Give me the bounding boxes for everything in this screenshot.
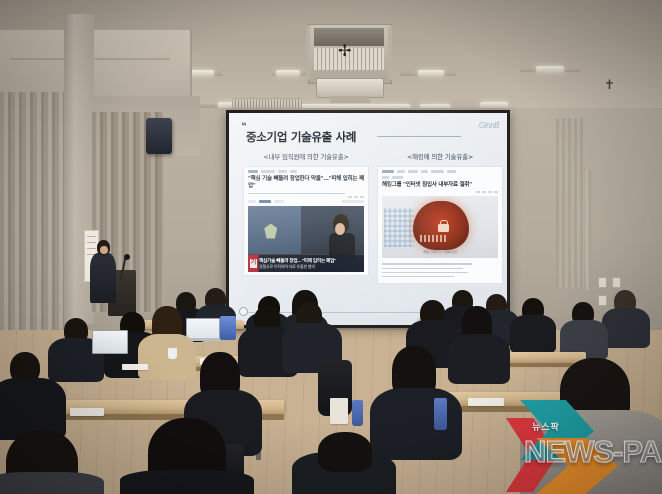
- door-frame: [586, 170, 591, 290]
- news-headline-right: 해킹그룹 "인터넷 침입사 내부자료 절취": [382, 182, 498, 189]
- news-article-card-left: "핵심 기술 빼돌려 창업한다 막을"…"피해 입히는 폐업": [243, 166, 369, 276]
- light-switch[interactable]: [598, 277, 607, 288]
- news-nav-bar: [382, 170, 498, 173]
- laptop-screen[interactable]: [186, 318, 220, 340]
- presenter-face: [100, 246, 108, 254]
- paper-document[interactable]: [70, 408, 104, 416]
- broadcast-badge: 기: [250, 259, 257, 268]
- broadcast-subcaption: 경쟁사로 이직하며 자료 유출한 혐의: [259, 264, 362, 270]
- water-bottle[interactable]: [352, 400, 363, 426]
- title-rule: [377, 136, 461, 137]
- window-curtain: [556, 118, 584, 288]
- organization-logo: GInnB: [479, 121, 499, 130]
- slide-timeline-marker: [239, 307, 248, 316]
- projector-cables: ✢: [338, 44, 351, 60]
- slide-column-right: <해킹에 의한 기술유출> 해킹그룹 "인터넷 침입사 내부자료: [377, 151, 503, 284]
- audience-body: [448, 334, 510, 384]
- projector-arm: [388, 26, 392, 80]
- news-headline-left: "핵심 기술 빼돌려 창업한다 막을"…"피해 입히는 폐업": [248, 176, 364, 191]
- audience-head-foreground: [318, 432, 372, 472]
- cybersecurity-photo: 해킹 이미지 / 자료사진: [382, 196, 498, 258]
- ceiling-soffit: [0, 30, 192, 100]
- audience-body: [138, 334, 196, 380]
- presenter-body: [90, 253, 116, 303]
- slide-column-left: <내부 임직원에 의한 기술유출> "핵심 기술 빼돌려 창업한다 막을"…"피…: [243, 151, 369, 276]
- lecture-hall-photo: ✝ ✝ ✢ “ 중소기업 기술유출 사례 GInnB: [0, 0, 662, 494]
- news-article-card-right: 해킹그룹 "인터넷 침입사 내부자료 절취" 해킹 이미지 / 자: [377, 166, 503, 284]
- window-curtain: [0, 92, 68, 342]
- light-switch[interactable]: [612, 277, 621, 288]
- monitor-riser: [220, 316, 236, 340]
- laptop-screen[interactable]: [92, 330, 128, 354]
- audience-body: [370, 388, 462, 460]
- sprinkler-icon: ✝: [604, 78, 615, 91]
- column-heading-right: <해킹에 의한 기술유출>: [377, 151, 503, 161]
- news-nav-bar: [248, 170, 364, 173]
- news-broadcast-photo: 기 핵심기술 빼돌려 창업…"피해 입히는 폐업" 경쟁사로 이직하며 자료 유…: [248, 206, 364, 272]
- paper-bag[interactable]: [330, 398, 348, 424]
- padlock-body: [438, 224, 449, 232]
- projector-mount-plate: [330, 96, 370, 103]
- paper-document[interactable]: [122, 364, 148, 370]
- projector-arm: [306, 26, 310, 80]
- light-switch[interactable]: [598, 295, 607, 306]
- watermark-brand-name: NEWS-PAK: [524, 434, 662, 470]
- slide-title: 중소기업 기술유출 사례: [246, 129, 356, 145]
- watermark-korean-text: 뉴스팍: [532, 420, 560, 433]
- drink-cup[interactable]: [168, 348, 177, 359]
- audience-body: [510, 315, 556, 353]
- water-bottle[interactable]: [434, 398, 447, 430]
- padlock-icon: [438, 220, 449, 232]
- watermark-logo: 뉴스팍 NEWS-PAK: [506, 392, 662, 494]
- news-meta-left: [248, 196, 364, 198]
- microphone: [124, 254, 130, 260]
- keyboard-graphic: [420, 235, 446, 242]
- audience-body: [602, 308, 650, 348]
- data-grid-graphic: [384, 208, 414, 248]
- column-heading-left: <내부 임직원에 의한 기술유출>: [243, 151, 369, 161]
- wall-speaker: [146, 118, 172, 154]
- light-switch-panel[interactable]: [598, 275, 628, 285]
- audience-body-foreground: [0, 472, 104, 494]
- ceiling-light: [536, 66, 564, 72]
- news-meta-right: [382, 191, 498, 193]
- audience-body-foreground: [120, 470, 254, 494]
- paper-document[interactable]: [468, 398, 504, 406]
- ceiling-light: [276, 70, 300, 76]
- photo-caption: 해킹 이미지 / 자료사진: [423, 250, 457, 255]
- ceiling-light: [418, 70, 444, 76]
